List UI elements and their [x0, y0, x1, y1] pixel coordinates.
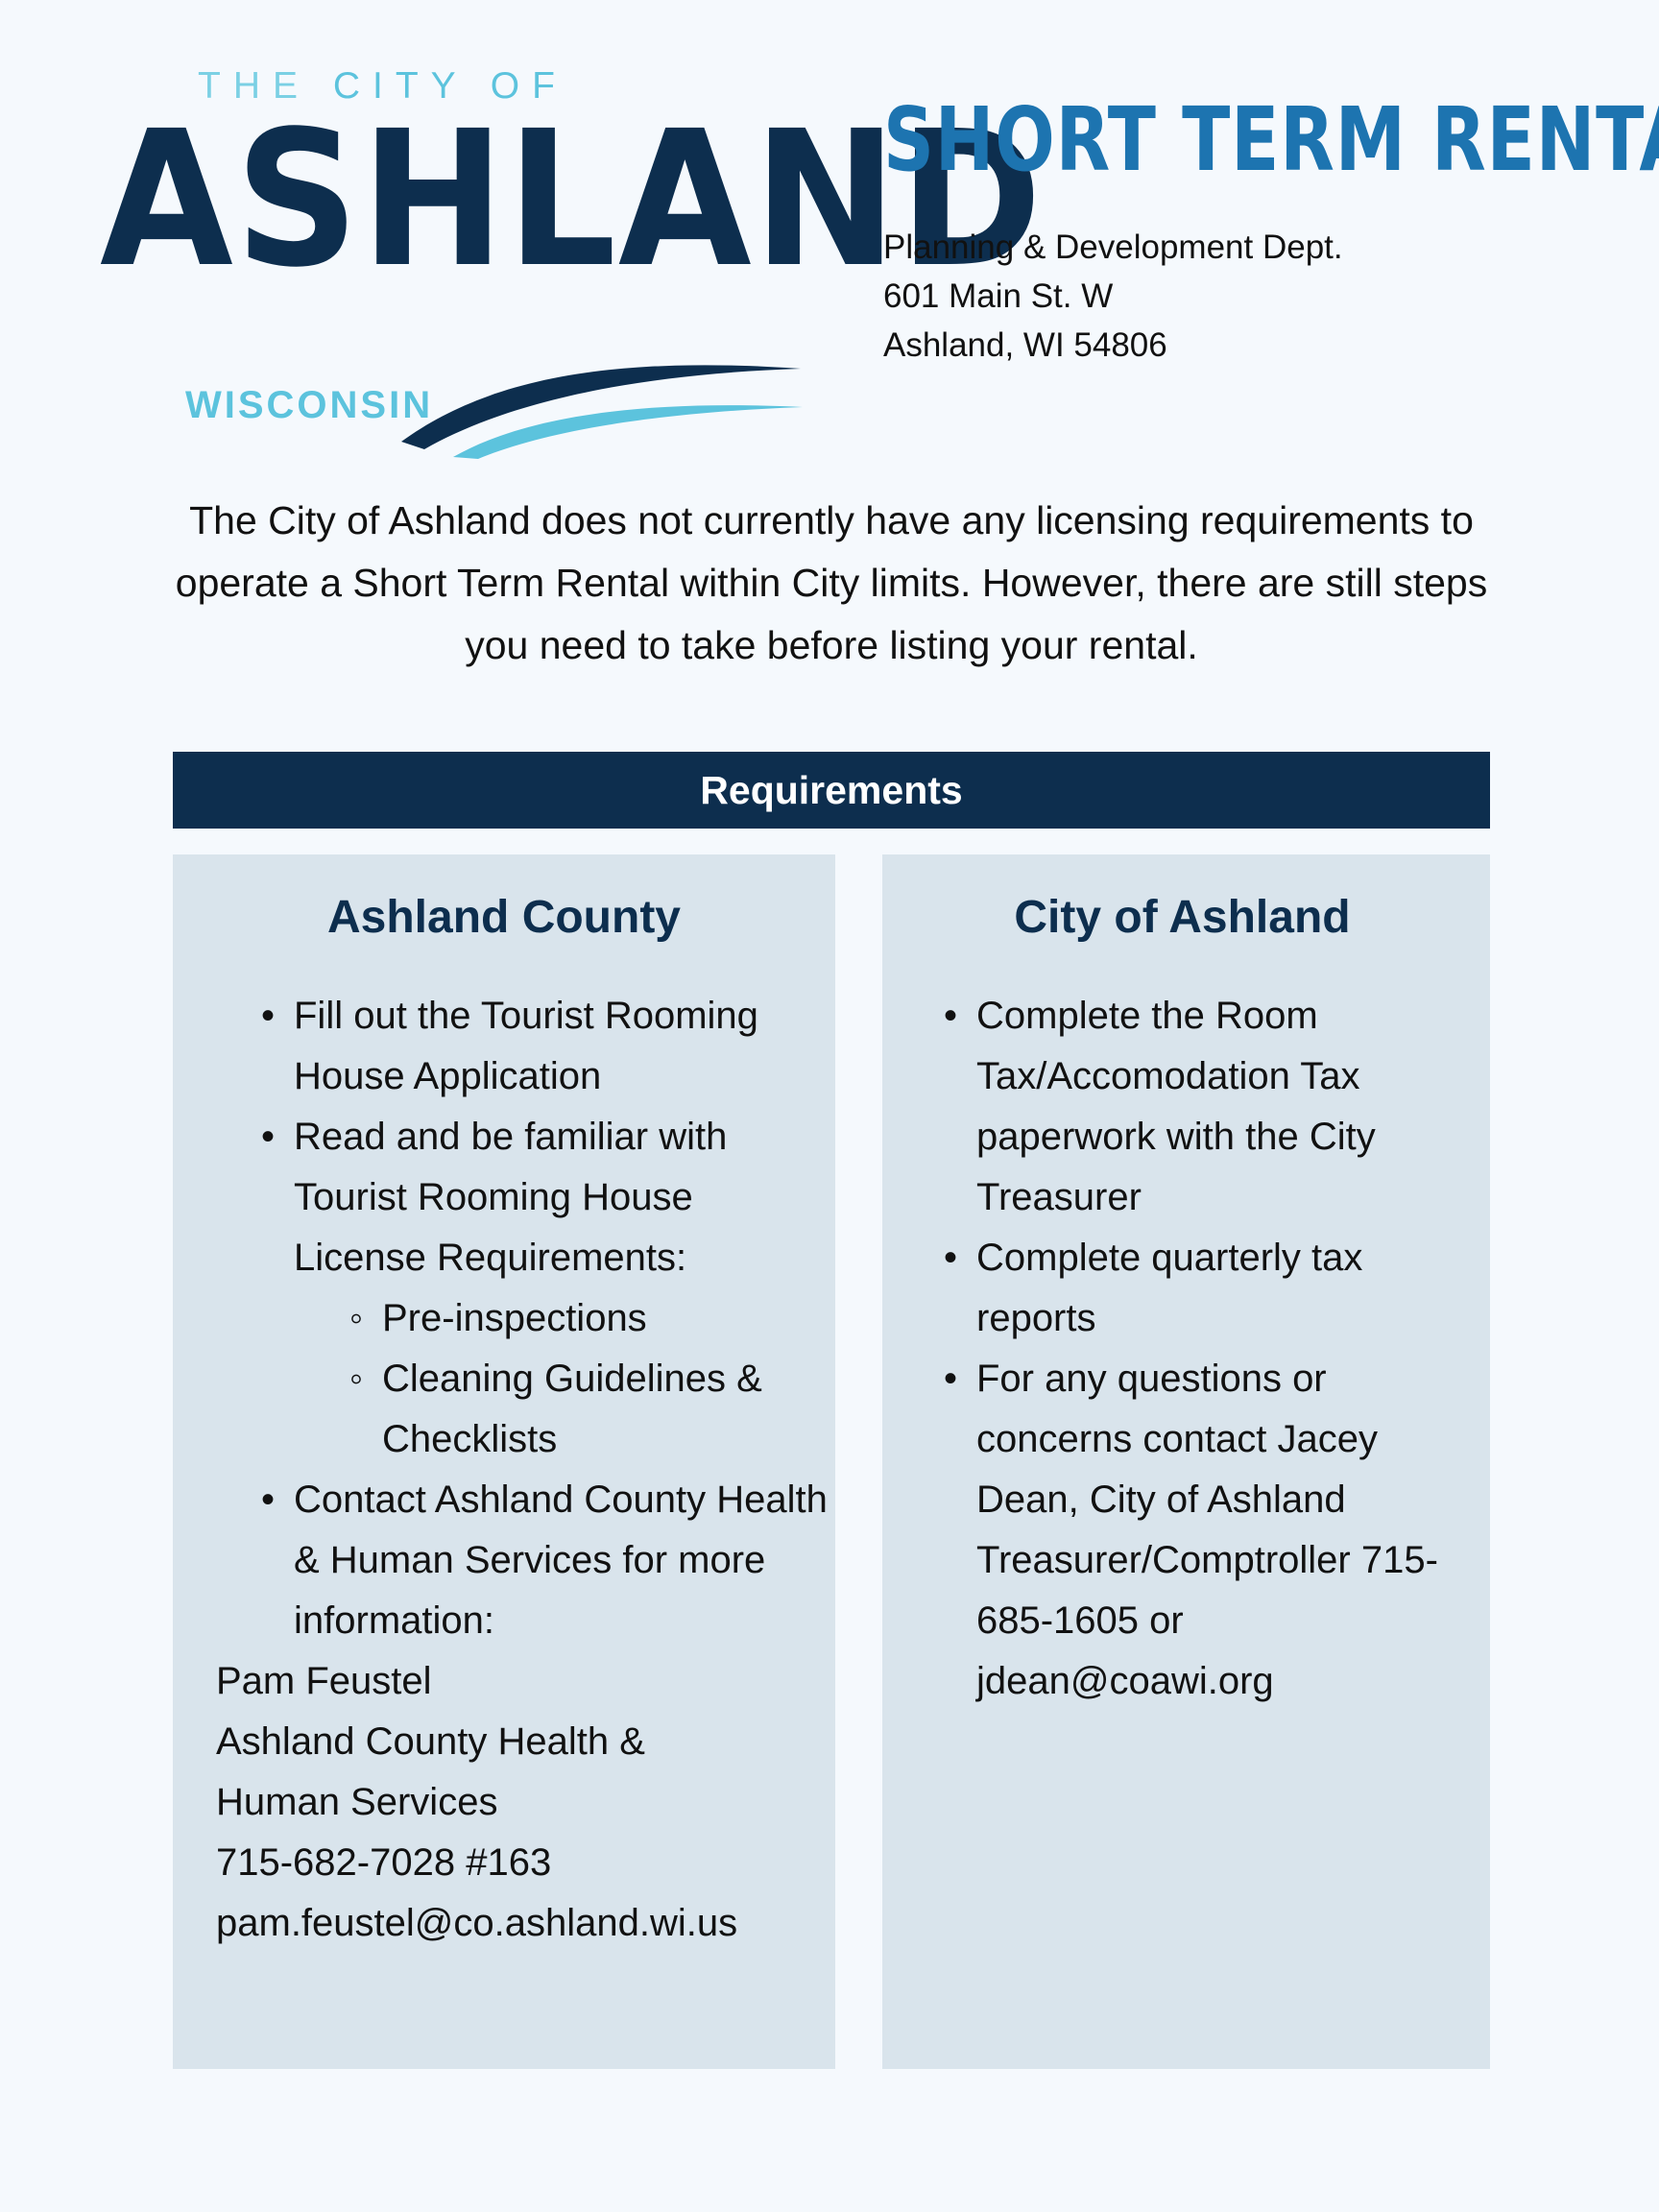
requirements-columns: Ashland County Fill out the Tourist Room… — [173, 854, 1490, 2069]
contact-name: Pam Feustel — [216, 1651, 806, 1712]
list-item-text: Fill out the Tourist Rooming House Appli… — [294, 995, 758, 1097]
header-right-block: SHORT TERM RENTALS Planning & Developmen… — [883, 96, 1594, 370]
bullet-list-city-of-ashland: Complete the Room Tax/Accomodation Tax p… — [882, 986, 1490, 1712]
address-line: Planning & Development Dept. — [883, 223, 1594, 272]
city-logo: THE CITY OF ASHLAND WISCONSIN — [92, 46, 783, 421]
contact-block-ashland-county: Pam Feustel Ashland County Health & Huma… — [173, 1651, 835, 1954]
address-line: Ashland, WI 54806 — [883, 321, 1594, 370]
list-item: Complete quarterly tax reports — [944, 1228, 1490, 1349]
page-header: THE CITY OF ASHLAND WISCONSIN SHORT TERM… — [0, 0, 1659, 451]
sub-bullet-list: Pre-inspections Cleaning Guidelines & Ch… — [294, 1288, 835, 1470]
sub-list-item-text: Pre-inspections — [382, 1297, 647, 1339]
contact-org-line: Human Services — [216, 1772, 806, 1833]
list-item: Contact Ashland County Health & Human Se… — [261, 1470, 835, 1651]
department-address: Planning & Development Dept. 601 Main St… — [883, 223, 1594, 370]
list-item: For any questions or concerns contact Ja… — [944, 1349, 1490, 1712]
bullet-list-ashland-county: Fill out the Tourist Rooming House Appli… — [173, 986, 835, 1651]
list-item-text: Complete the Room Tax/Accomodation Tax p… — [976, 995, 1376, 1218]
panel-heading-city-of-ashland: City of Ashland — [875, 891, 1490, 944]
contact-email: pam.feustel@co.ashland.wi.us — [216, 1893, 806, 1954]
list-item: Fill out the Tourist Rooming House Appli… — [261, 986, 835, 1107]
sub-list-item-text: Cleaning Guidelines & Checklists — [382, 1358, 762, 1460]
sub-list-item: Pre-inspections — [349, 1288, 835, 1349]
list-item-text: Complete quarterly tax reports — [976, 1237, 1362, 1339]
list-item-text: Contact Ashland County Health & Human Se… — [294, 1479, 828, 1642]
sub-list-item: Cleaning Guidelines & Checklists — [349, 1349, 835, 1470]
page-title: SHORT TERM RENTALS — [883, 96, 1452, 184]
panel-heading-ashland-county: Ashland County — [173, 891, 835, 944]
list-item-text: For any questions or concerns contact Ja… — [976, 1358, 1438, 1702]
requirements-label: Requirements — [700, 768, 962, 813]
contact-phone: 715-682-7028 #163 — [216, 1833, 806, 1893]
panel-city-of-ashland: City of Ashland Complete the Room Tax/Ac… — [882, 854, 1490, 2069]
list-item: Complete the Room Tax/Accomodation Tax p… — [944, 986, 1490, 1228]
contact-org-line: Ashland County Health & — [216, 1712, 806, 1772]
address-line: 601 Main St. W — [883, 272, 1594, 321]
logo-state-name: WISCONSIN — [185, 384, 433, 427]
list-item: Read and be familiar with Tourist Roomin… — [261, 1107, 835, 1470]
wave-icon — [399, 353, 803, 459]
requirements-section-header: Requirements — [173, 752, 1490, 829]
intro-paragraph: The City of Ashland does not currently h… — [169, 490, 1494, 677]
list-item-text: Read and be familiar with Tourist Roomin… — [294, 1116, 727, 1279]
panel-ashland-county: Ashland County Fill out the Tourist Room… — [173, 854, 835, 2069]
